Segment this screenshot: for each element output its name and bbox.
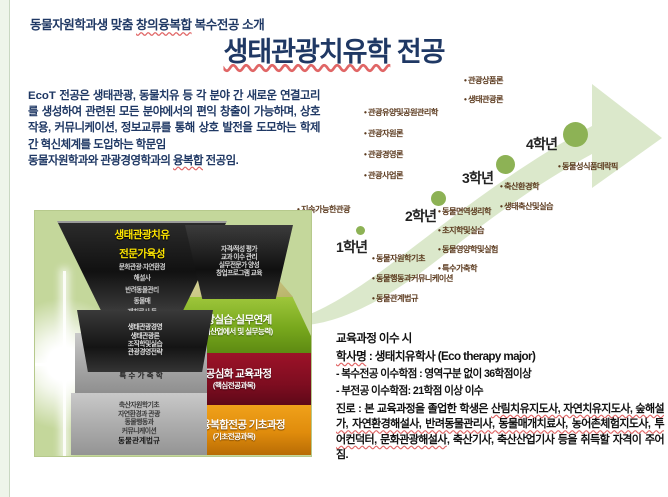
course-label: 동물영양학및실험	[438, 243, 498, 255]
pyramid-tier-red-subtitle: (핵심전공과목)	[213, 381, 255, 390]
course-label: 동물자원학기초	[372, 252, 425, 264]
degree-value: : 생태치유학사 (Eco therapy major)	[366, 350, 535, 363]
panel-bot-line: 축산자원학기초	[119, 402, 159, 410]
panel-assess-line: 자격/적성 평가	[221, 246, 257, 254]
completion-info-block: 교육과정 이수 시 학사명 : 생태치유학사 (Eco therapy majo…	[336, 330, 662, 398]
course-label: 관광자원론	[364, 127, 403, 139]
intro-body: 전공은 생태관광, 동물치유 등 각 분야 간 새로운 연결고리를 생성하여 관…	[28, 90, 320, 151]
course-label: 생태관광론	[464, 93, 503, 105]
intro-lead-term: EcoT	[28, 90, 56, 102]
panel-assess-line: 창업프로그램 교육	[216, 270, 262, 278]
completion-heading: 교육과정 이수 시	[336, 330, 662, 346]
year-dot-4	[563, 122, 588, 147]
course-label: 생태축산및실습	[500, 200, 553, 212]
pyramid-panel-basic-courses: 축산자원학기초 자연환경과 관광 동물행동과 커뮤니케이션 동물관계법규	[71, 393, 207, 455]
course-label: 동물면역생리학	[438, 205, 491, 217]
pyramid-panel-assessment: 자격/적성 평가 교과 이수 관리 실무전문가 양성 창업프로그램 교육	[185, 225, 293, 299]
panel-mid-line: 관광경영전략	[128, 349, 163, 357]
panel-bot-line: 커뮤니케이션	[122, 428, 157, 436]
course-label: 특수가축학	[438, 262, 477, 274]
year-dot-1	[356, 226, 365, 235]
panel-mid-line: 생태관광론	[131, 333, 160, 341]
course-label: 관광사업론	[364, 169, 403, 181]
course-label: 동물관계법규	[372, 292, 418, 304]
panel-bot-line: 자연환경과 관광	[118, 411, 160, 419]
panel-assess-line: 교과 이수 관리	[221, 254, 257, 262]
panel-bot-line: 동물행동과	[125, 419, 154, 427]
intro-line2-wavy: 융복합	[173, 155, 203, 167]
slide-canvas: 동물자원학과생 맞춤 창의융복합 복수전공 소개 생태관광치유학 전공 EcoT…	[0, 0, 668, 497]
competency-pyramid-graphic: 국내외 인턴쉽 현장실습·실무연계 (지역산업에서 및 실무능력) 전공심화 교…	[34, 210, 312, 457]
curriculum-roadmap: 1학년 2학년 3학년 4학년 지속가능한관광 동물자원학기초 동물행동과커뮤니…	[300, 60, 668, 325]
pyramid-tier-orange-subtitle: (기초전공과목)	[213, 432, 255, 441]
panel-low-strong: 특 수 가 축 학	[119, 371, 162, 380]
year-label-4: 4학년	[526, 134, 557, 154]
left-edge-strip	[0, 0, 9, 497]
year-label-3: 3학년	[462, 168, 493, 188]
intro-line2-suffix: 전공임.	[203, 155, 238, 167]
credit-requirement-double-major: - 복수전공 이수학점 : 영역구분 없이 36학점이상	[336, 366, 662, 381]
left-edge-divider	[9, 0, 10, 497]
year-label-1: 1학년	[336, 237, 367, 257]
pyramid-panel-tourism-courses: 생태관광경영 생태관광론 조직학및실습 관광경영전략	[77, 310, 213, 372]
pyramid-tier-red-title: 전공심화 교육과정	[197, 368, 272, 381]
panel-assess-line: 실무전문가 양성	[219, 262, 259, 270]
year-dot-3	[496, 155, 515, 174]
intro-paragraph: EcoT 전공은 생태관광, 동물치유 등 각 분야 간 새로운 연결고리를 생…	[28, 88, 320, 169]
career-paths-paragraph: 진로 : 본 교육과정을 졸업한 학생은 산림치유지도사, 자연치유지도사, 숲…	[336, 402, 664, 464]
degree-label: 학사명	[336, 350, 366, 363]
year-dot-2	[431, 191, 446, 206]
panel-mid-line: 생태관광경영	[128, 324, 163, 332]
intro-line2-prefix: 동물자원학과와 관광경영학과의	[28, 155, 173, 167]
career-prefix: 진로 : 본 교육과정을 졸업한 학생은	[336, 403, 491, 415]
course-label: 관광유양및공원관리학	[364, 106, 438, 118]
panel-bot-strong: 동물관계법규	[118, 436, 160, 445]
course-label: 관광상품론	[464, 74, 503, 86]
degree-line: 학사명 : 생태치유학사 (Eco therapy major)	[336, 348, 662, 364]
course-label: 축산환경학	[500, 180, 539, 192]
year-label-2: 2학년	[405, 206, 436, 226]
credit-requirement-minor: - 부전공 이수학점: 21학점 이상 이수	[336, 383, 662, 398]
course-label: 초지학및실습	[438, 224, 484, 236]
course-label: 관광경영론	[364, 148, 403, 160]
course-label: 동물성식품데락픽	[558, 160, 618, 172]
